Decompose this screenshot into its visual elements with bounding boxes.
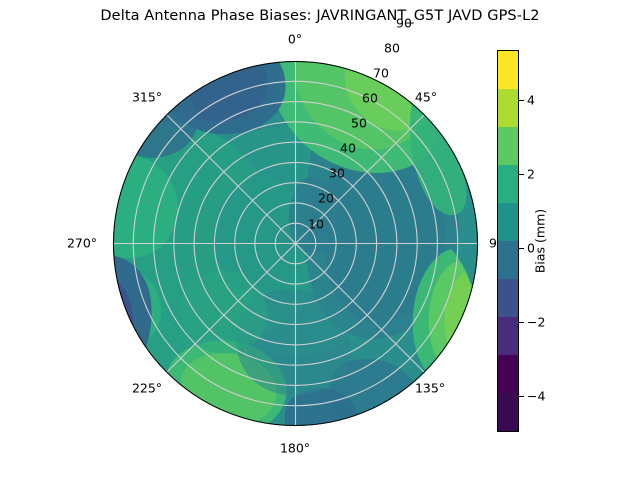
theta-tick-label-0: 0° <box>288 32 302 47</box>
r-tick-label-50: 50 <box>351 116 367 131</box>
theta-tick-label-270: 270° <box>67 236 97 251</box>
theta-tick-label-135: 135° <box>415 381 445 396</box>
polar-data-surface <box>113 61 478 426</box>
contour-field <box>113 61 478 426</box>
colorbar-tick-2 <box>519 174 524 175</box>
colorbar-gradient <box>497 50 519 432</box>
colorbar-band-1 <box>498 355 518 393</box>
colorbar-ticklabel-m2: −2 <box>527 315 545 330</box>
colorbar-ticklabel-4: 4 <box>527 93 535 108</box>
colorbar-ticklabel-2: 2 <box>527 167 535 182</box>
figure-canvas: Delta Antenna Phase Biases: JAVRINGANT_G… <box>0 0 640 480</box>
theta-tick-label-45: 45° <box>415 90 437 105</box>
colorbar-ticklabel-m4: −4 <box>527 389 545 404</box>
colorbar-band-4 <box>498 241 518 279</box>
theta-tick-label-225: 225° <box>132 381 162 396</box>
colorbar-tick-m2 <box>519 322 524 323</box>
colorbar-band-3 <box>498 279 518 317</box>
colorbar-band-9 <box>498 51 518 89</box>
r-tick-label-10: 10 <box>308 217 324 232</box>
theta-tick-label-180: 180° <box>280 441 310 456</box>
r-tick-label-90: 90 <box>396 16 412 31</box>
colorbar[interactable]: 4 2 0 −2 −4 <box>497 50 519 432</box>
colorbar-band-7 <box>498 127 518 165</box>
theta-tick-label-315: 315° <box>132 90 162 105</box>
colorbar-tick-m4 <box>519 396 524 397</box>
colorbar-band-8 <box>498 89 518 127</box>
colorbar-band-5 <box>498 203 518 241</box>
colorbar-band-0 <box>498 393 518 431</box>
colorbar-tick-0 <box>519 248 524 249</box>
colorbar-tick-4 <box>519 100 524 101</box>
colorbar-axis-label: Bias (mm) <box>533 209 548 273</box>
r-tick-label-70: 70 <box>373 66 389 81</box>
polar-axes[interactable]: 10 20 30 40 50 60 70 80 90 0° 45° 90 135… <box>113 61 478 426</box>
r-tick-label-30: 30 <box>329 166 345 181</box>
page-title: Delta Antenna Phase Biases: JAVRINGANT_G… <box>0 8 640 24</box>
r-tick-label-60: 60 <box>362 91 378 106</box>
r-tick-label-40: 40 <box>340 141 356 156</box>
colorbar-band-6 <box>498 165 518 203</box>
polar-grid <box>113 61 478 426</box>
colorbar-band-2 <box>498 317 518 355</box>
r-tick-label-20: 20 <box>318 191 334 206</box>
r-tick-label-80: 80 <box>384 41 400 56</box>
